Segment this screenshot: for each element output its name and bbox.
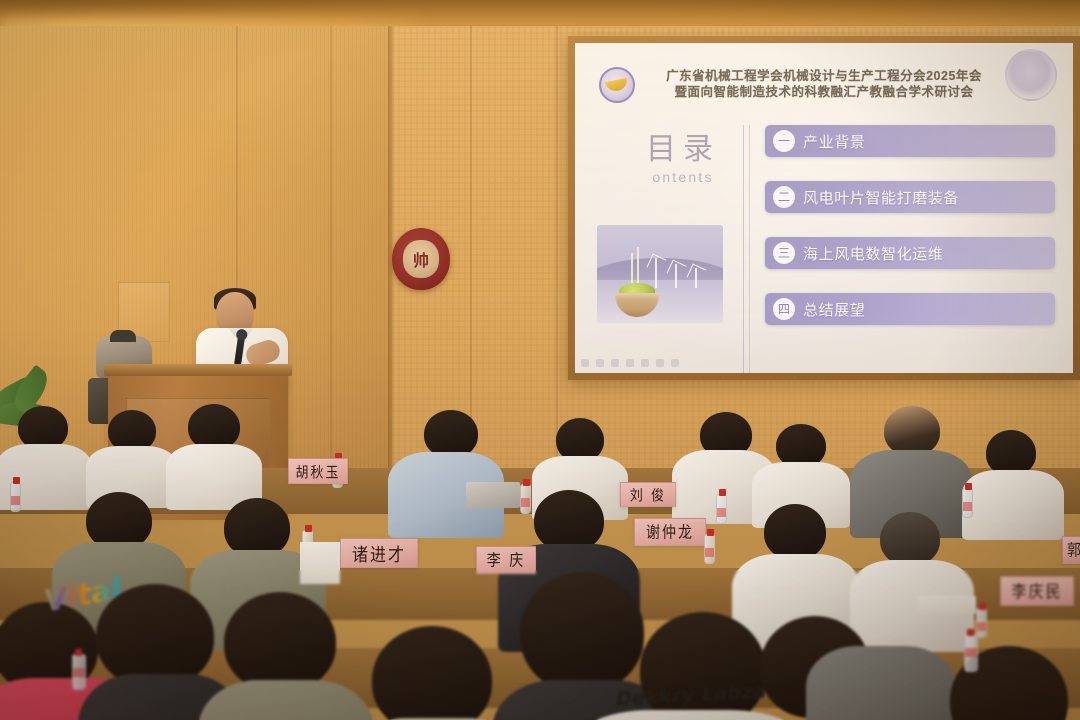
toolbar-dot [671, 359, 679, 367]
toc-label-2: 风电叶片智能打磨装备 [803, 187, 959, 208]
audience-head [224, 498, 290, 558]
emblem-glyph: 帅 [403, 240, 439, 278]
audience-torso [962, 470, 1064, 540]
toc-item-3: 三 海上风电数智化运维 [765, 237, 1055, 269]
podium-top [104, 364, 292, 376]
toc-label-1: 产业背景 [803, 131, 865, 152]
water-bottle [716, 494, 727, 524]
laptop [466, 482, 520, 508]
toc-item-1: 一 产业背景 [765, 125, 1055, 157]
wind-turbine-icon [695, 268, 697, 288]
noodle-strand [631, 253, 633, 287]
namecard-text: 谢仲龙 [646, 521, 694, 543]
namecard-text: 刘 俊 [630, 484, 666, 505]
bottle-label [965, 648, 977, 657]
conference-photo: 帅 广东省机械工程学会机械设计与生产工程分会2025年会 暨面向智能制造技术的科… [0, 0, 1080, 720]
toc-number-4: 四 [773, 298, 795, 320]
contents-heading-cn: 目录 [637, 135, 729, 165]
bottle-label [977, 622, 986, 631]
audience-head [372, 626, 492, 720]
water-bottle [962, 488, 973, 518]
water-bottle [10, 482, 21, 512]
wind-turbine-icon [675, 264, 677, 288]
audience-head [764, 504, 826, 560]
toolbar-dot [641, 359, 649, 367]
toolbar-dot [581, 359, 589, 367]
slide-title: 广东省机械工程学会机械设计与生产工程分会2025年会 暨面向智能制造技术的科教融… [666, 68, 982, 100]
audience-area: 胡秋玉 刘 俊 诸进才 李 庆 谢仲龙 李庆民 郭 [0, 396, 1080, 720]
water-bottle [964, 634, 978, 672]
namecard-1: 胡秋玉 [288, 458, 348, 484]
water-bottle [520, 484, 531, 514]
contents-heading-en: ontents [637, 169, 729, 185]
audience-head [520, 572, 644, 692]
toolbar-dot [596, 359, 604, 367]
slide-header: 广东省机械工程学会机械设计与生产工程分会2025年会 暨面向智能制造技术的科教融… [575, 57, 1073, 111]
audience-torso [806, 646, 956, 720]
water-bottle [976, 608, 987, 638]
paper-cup [300, 542, 340, 584]
contents-heading: 目录 ontents [637, 135, 729, 185]
bottle-label [705, 548, 714, 557]
paper-handout [918, 596, 976, 614]
toc-label-3: 海上风电数智化运维 [803, 243, 943, 264]
namecard-4: 谢仲龙 [634, 518, 706, 546]
water-bottle [704, 534, 715, 564]
audience-head [534, 490, 604, 552]
toc-number-3: 三 [773, 242, 795, 264]
bottle-label [717, 508, 726, 517]
namecard-7: 郭 [1062, 536, 1080, 564]
toc-item-4: 四 总结展望 [765, 293, 1055, 325]
audience-head [880, 512, 940, 566]
slide-title-line2: 暨面向智能制造技术的科教融汇产教融合学术研讨会 [666, 84, 982, 100]
water-bottle [72, 654, 86, 690]
audience-head [884, 406, 940, 456]
toolbar-dot [656, 359, 664, 367]
namecard-text: 李 庆 [487, 549, 525, 571]
namecard-5: 李 庆 [476, 546, 536, 574]
toc-number-1: 一 [773, 130, 795, 152]
bottle-label [521, 498, 530, 507]
projection-screen-frame: 广东省机械工程学会机械设计与生产工程分会2025年会 暨面向智能制造技术的科教融… [568, 36, 1080, 380]
namecard-text: 诸进才 [352, 540, 406, 567]
namecard-text: 李庆民 [1011, 579, 1062, 603]
contents-divider [743, 125, 750, 373]
institution-emblem: 帅 [392, 228, 450, 290]
bottle-label [73, 668, 85, 677]
slide-illustration [597, 225, 723, 323]
projection-screen: 广东省机械工程学会机械设计与生产工程分会2025年会 暨面向智能制造技术的科教融… [575, 43, 1073, 373]
wind-turbine-icon [655, 258, 657, 288]
audience-head [96, 584, 214, 688]
toolbar-dot [611, 359, 619, 367]
toc-item-2: 二 风电叶片智能打磨装备 [765, 181, 1055, 213]
audience-head [424, 410, 478, 458]
namecard-3: 刘 俊 [620, 482, 676, 507]
audience-head [224, 592, 336, 692]
toolbar-dot [626, 359, 634, 367]
namecard-2: 诸进才 [340, 538, 418, 568]
namecard-text: 郭 [1067, 539, 1080, 561]
toc-label-4: 总结展望 [803, 299, 865, 320]
namecard-6: 李庆民 [1000, 576, 1074, 606]
namecard-text: 胡秋玉 [295, 460, 340, 481]
table-of-contents: 一 产业背景 二 风电叶片智能打磨装备 三 海上风电数智化运维 四 总结展望 [765, 125, 1055, 325]
bottle-label [963, 502, 972, 511]
noodle-strand [637, 247, 639, 287]
bottle-label [11, 496, 20, 505]
slide-toolbar [581, 359, 679, 367]
toc-number-2: 二 [773, 186, 795, 208]
slide-title-line1: 广东省机械工程学会机械设计与生产工程分会2025年会 [666, 68, 982, 84]
